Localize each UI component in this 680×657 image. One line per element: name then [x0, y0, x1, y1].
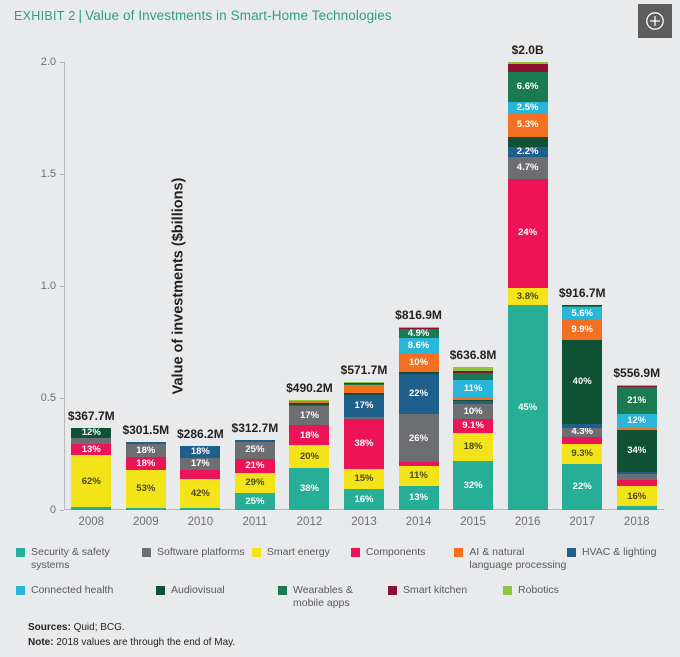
segment-2014-security-safety-systems: 13% — [399, 486, 439, 510]
segment-2015-security-safety-systems: 32% — [453, 461, 493, 510]
segment-2012-security-safety-systems: 38% — [289, 468, 329, 510]
segment-2015-components: 9.1% — [453, 419, 493, 433]
legend-swatch — [16, 548, 25, 557]
x-tick-label-2008: 2008 — [78, 516, 104, 528]
legend-label: Audiovisual — [171, 584, 225, 597]
bar-2010[interactable]: 42%17%18%$286.2M — [180, 446, 220, 510]
bar-2011[interactable]: 25%29%21%25%$312.7M — [235, 440, 275, 510]
segment-2008-smart-energy: 62% — [71, 455, 111, 507]
segment-2008-components: 13% — [71, 444, 111, 455]
segment-2010-security-safety-systems — [180, 508, 220, 510]
legend-label: Robotics — [518, 584, 559, 597]
segment-2009-software-platforms: 18% — [126, 444, 166, 457]
bar-2017[interactable]: 22%9.3%4.3%40%9.9%5.6%$916.7M — [562, 305, 602, 510]
segment-2013-hvac-lighting: 17% — [344, 395, 384, 417]
bar-total-2010: $286.2M — [177, 427, 224, 441]
x-tick-label-2010: 2010 — [188, 516, 214, 528]
segment-2016-ai-natural-language-processing: 5.3% — [508, 113, 548, 137]
bar-total-2012: $490.2M — [286, 381, 333, 395]
segment-2018-smart-energy: 16% — [617, 486, 657, 506]
segment-2017-smart-energy: 9.3% — [562, 444, 602, 464]
segment-2013-ai-natural-language-processing — [344, 386, 384, 393]
legend-row-1: Security & safety systemsSoftware platfo… — [16, 546, 666, 572]
segment-2011-components: 21% — [235, 459, 275, 473]
segment-2016-audiovisual — [508, 137, 548, 147]
note-label: Note: — [28, 637, 54, 648]
segment-2010-software-platforms: 17% — [180, 458, 220, 470]
legend-label: Security & safety systems — [31, 546, 142, 572]
y-tick-label: 1.0 — [41, 280, 56, 292]
legend-item-smart-kitchen[interactable]: Smart kitchen — [388, 584, 503, 610]
legend-swatch — [503, 586, 512, 595]
segment-2010-hvac-lighting: 18% — [180, 446, 220, 458]
segment-2014-hvac-lighting: 22% — [399, 374, 439, 414]
legend-swatch — [388, 586, 397, 595]
legend-row-2: Connected healthAudiovisualWearables &mo… — [16, 584, 666, 610]
x-tick-label-2011: 2011 — [243, 516, 268, 528]
exhibit-container: Exhibit 2|Value of Investments in Smart-… — [0, 0, 680, 657]
legend-item-robotics[interactable]: Robotics — [503, 584, 613, 610]
segment-2013-smart-energy: 15% — [344, 469, 384, 489]
segment-2015-connected-health: 11% — [453, 380, 493, 397]
bar-2012[interactable]: 38%20%18%17%$490.2M — [289, 400, 329, 510]
legend-item-components[interactable]: Components — [351, 546, 455, 572]
legend-item-wearables-mobile-apps[interactable]: Wearables &mobile apps — [278, 584, 388, 610]
bar-2016[interactable]: 45%3.8%24%4.7%2.2%5.3%2.5%6.6%$2.0B — [508, 62, 548, 510]
x-tick-label-2009: 2009 — [133, 516, 159, 528]
legend-swatch — [16, 586, 25, 595]
segment-2011-smart-energy: 29% — [235, 473, 275, 493]
legend-label: Smart kitchen — [403, 584, 467, 597]
legend-item-connected-health[interactable]: Connected health — [16, 584, 156, 610]
segment-2016-smart-energy: 3.8% — [508, 288, 548, 305]
y-tick-label: 0 — [50, 504, 56, 516]
segment-2013-components: 38% — [344, 419, 384, 469]
segment-2017-audiovisual: 40% — [562, 340, 602, 424]
segment-2014-wearables-mobile-apps: 4.9% — [399, 329, 439, 338]
legend-label: Components — [366, 546, 426, 559]
legend-label: Smart energy — [267, 546, 330, 559]
legend-item-smart-energy[interactable]: Smart energy — [252, 546, 351, 572]
bar-2015[interactable]: 32%18%9.1%10%11%$636.8M — [453, 367, 493, 510]
segment-2010-smart-energy: 42% — [180, 479, 220, 508]
y-tick-label: 1.5 — [41, 168, 56, 180]
y-tick-label: 2.0 — [41, 56, 56, 68]
segment-2017-software-platforms: 4.3% — [562, 428, 602, 437]
segment-2013-security-safety-systems: 16% — [344, 489, 384, 510]
legend-item-hvac-lighting[interactable]: HVAC & lighting — [567, 546, 666, 572]
segment-2010-components — [180, 470, 220, 479]
segment-2016-connected-health: 2.5% — [508, 102, 548, 113]
segment-2017-components — [562, 437, 602, 444]
segment-2014-ai-natural-language-processing: 10% — [399, 354, 439, 372]
bar-2014[interactable]: 13%11%26%22%10%8.6%4.9%$816.9M — [399, 327, 439, 510]
segment-2015-software-platforms: 10% — [453, 404, 493, 419]
segment-2009-smart-energy: 53% — [126, 470, 166, 508]
bar-total-2016: $2.0B — [512, 43, 544, 57]
segment-2016-software-platforms: 4.7% — [508, 157, 548, 178]
y-tick-label: 0.5 — [41, 392, 56, 404]
note-line: Note: 2018 values are through the end of… — [28, 635, 235, 650]
legend-label: Connected health — [31, 584, 113, 597]
bar-2018[interactable]: 16%34%12%21%$556.9M — [617, 385, 657, 510]
sources-label: Sources: — [28, 622, 71, 633]
exhibit-header: Exhibit 2|Value of Investments in Smart-… — [14, 8, 620, 36]
segment-2016-components: 24% — [508, 179, 548, 288]
page-title: Exhibit 2|Value of Investments in Smart-… — [14, 8, 620, 23]
sources-text: Quid; BCG. — [74, 622, 125, 633]
legend-item-software-platforms[interactable]: Software platforms — [142, 546, 252, 572]
chart-legend: Security & safety systemsSoftware platfo… — [16, 546, 666, 611]
legend-swatch — [351, 548, 360, 557]
x-tick-label-2012: 2012 — [297, 516, 323, 528]
legend-swatch — [142, 548, 151, 557]
legend-label: Wearables &mobile apps — [293, 584, 353, 610]
legend-label: AI & naturallanguage processing — [469, 546, 566, 572]
legend-item-audiovisual[interactable]: Audiovisual — [156, 584, 278, 610]
segment-2016-hvac-lighting: 2.2% — [508, 147, 548, 157]
bar-2013[interactable]: 16%15%38%17%$571.7M — [344, 382, 384, 510]
plus-circle-icon — [645, 11, 665, 31]
legend-swatch — [156, 586, 165, 595]
bar-total-2008: $367.7M — [68, 409, 115, 423]
segment-2009-security-safety-systems — [126, 508, 166, 510]
bar-total-2017: $916.7M — [559, 286, 606, 300]
segment-2018-software-platforms — [617, 474, 657, 481]
segment-2014-software-platforms: 26% — [399, 414, 439, 462]
legend-swatch — [252, 548, 261, 557]
segment-2016-wearables-mobile-apps: 6.6% — [508, 72, 548, 102]
bar-total-2014: $816.9M — [395, 308, 442, 322]
segment-2018-security-safety-systems — [617, 506, 657, 510]
segment-2012-smart-energy: 20% — [289, 445, 329, 467]
legend-item-ai-natural-language-processing[interactable]: AI & naturallanguage processing — [454, 546, 567, 572]
bar-total-2015: $636.8M — [450, 348, 497, 362]
x-tick-label-2018: 2018 — [624, 516, 650, 528]
title-separator: | — [79, 8, 83, 23]
chart-plot-area: Value of investments ($billions) 00.51.0… — [64, 62, 664, 510]
segment-2008-security-safety-systems — [71, 507, 111, 510]
segment-2011-security-safety-systems: 25% — [235, 493, 275, 510]
segment-2018-connected-health: 12% — [617, 414, 657, 429]
segment-2017-security-safety-systems: 22% — [562, 464, 602, 510]
bar-total-2013: $571.7M — [341, 363, 388, 377]
legend-label: Software platforms — [157, 546, 245, 559]
legend-swatch — [567, 548, 576, 557]
bar-2009[interactable]: 53%18%18%$301.5M — [126, 442, 166, 510]
bar-total-2011: $312.7M — [232, 421, 279, 435]
segment-2018-wearables-mobile-apps: 21% — [617, 387, 657, 413]
segment-2018-audiovisual: 34% — [617, 430, 657, 472]
segment-2008-audiovisual: 12% — [71, 428, 111, 438]
segment-2012-software-platforms: 17% — [289, 406, 329, 425]
legend-label: HVAC & lighting — [582, 546, 657, 559]
segment-2017-connected-health: 5.6% — [562, 307, 602, 319]
zoom-expand-button[interactable] — [638, 4, 672, 38]
segment-2016-smart-kitchen — [508, 64, 548, 72]
segment-2017-ai-natural-language-processing: 9.9% — [562, 319, 602, 340]
segment-2009-components: 18% — [126, 457, 166, 470]
legend-item-security-safety-systems[interactable]: Security & safety systems — [16, 546, 142, 572]
bar-2008[interactable]: 62%13%12%$367.7M — [71, 428, 111, 510]
bar-total-2009: $301.5M — [122, 423, 169, 437]
legend-swatch — [454, 548, 463, 557]
x-tick-label-2016: 2016 — [515, 516, 541, 528]
x-tick-label-2013: 2013 — [351, 516, 377, 528]
x-tick-label-2014: 2014 — [406, 516, 432, 528]
segment-2016-security-safety-systems: 45% — [508, 305, 548, 510]
segment-2012-components: 18% — [289, 425, 329, 445]
segment-2015-smart-energy: 18% — [453, 433, 493, 461]
footnotes: Sources: Quid; BCG. Note: 2018 values ar… — [28, 620, 235, 650]
sources-line: Sources: Quid; BCG. — [28, 620, 235, 635]
exhibit-label: Exhibit 2 — [14, 9, 76, 23]
bar-total-2018: $556.9M — [613, 366, 660, 380]
segment-2011-software-platforms: 25% — [235, 442, 275, 459]
x-tick-label-2015: 2015 — [460, 516, 486, 528]
segment-2014-smart-energy: 11% — [399, 466, 439, 486]
title-text: Value of Investments in Smart-Home Techn… — [85, 8, 392, 23]
y-tick-mark — [60, 510, 64, 511]
note-text: 2018 values are through the end of May. — [56, 637, 235, 648]
segment-2015-wearables-mobile-apps — [453, 373, 493, 380]
legend-swatch — [278, 586, 287, 595]
segment-2014-connected-health: 8.6% — [399, 338, 439, 354]
x-tick-label-2017: 2017 — [569, 516, 595, 528]
bar-series-group: 62%13%12%$367.7M53%18%18%$301.5M42%17%18… — [64, 62, 664, 510]
